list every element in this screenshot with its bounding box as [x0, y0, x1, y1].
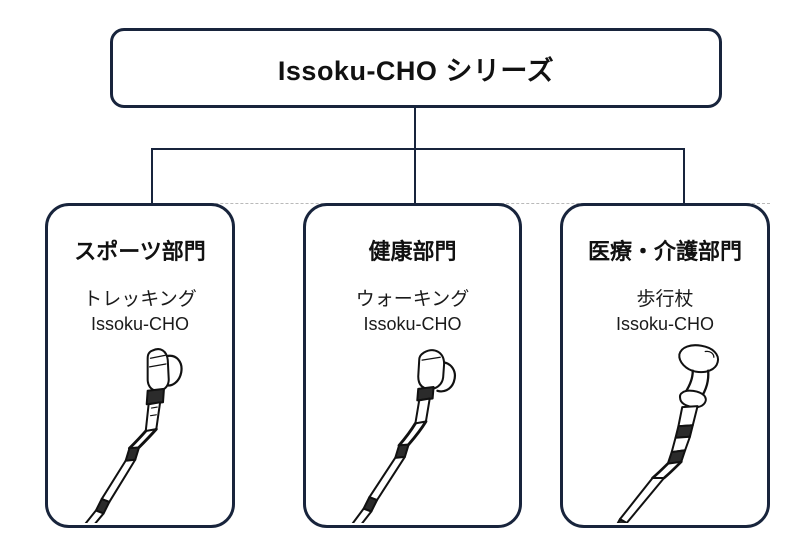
category-subtitle-sports: トレッキング	[48, 284, 232, 311]
connector-root-trunk	[414, 108, 416, 150]
category-subtitle-medical: 歩行杖	[563, 284, 767, 311]
root-node-issoku-cho-series[interactable]: Issoku-CHO シリーズ	[110, 28, 722, 108]
category-heading-health: 健康部門	[306, 234, 519, 266]
category-card-medical[interactable]: 医療・介護部門 歩行杖 Issoku-CHO	[560, 203, 770, 528]
connector-horizontal-bus	[151, 148, 685, 150]
walking-cane-illustration-icon	[563, 341, 767, 523]
category-brand-sports: Issoku-CHO	[48, 314, 232, 335]
category-brand-health: Issoku-CHO	[306, 314, 519, 335]
root-node-label: Issoku-CHO シリーズ	[278, 49, 554, 88]
category-card-health[interactable]: 健康部門 ウォーキング Issoku-CHO	[303, 203, 522, 528]
trekking-pole-illustration-icon	[48, 341, 232, 523]
category-brand-medical: Issoku-CHO	[563, 314, 767, 335]
category-heading-sports: スポーツ部門	[48, 234, 232, 266]
category-card-sports[interactable]: スポーツ部門 トレッキング Issoku-CHO	[45, 203, 235, 528]
walking-pole-illustration-icon	[306, 341, 519, 523]
category-subtitle-health: ウォーキング	[306, 284, 519, 311]
diagram-canvas: Issoku-CHO シリーズ スポーツ部門 トレッキング Issoku-CHO	[0, 0, 800, 548]
connector-branch-medical	[683, 148, 685, 205]
connector-branch-health	[414, 148, 416, 205]
connector-branch-sports	[151, 148, 153, 205]
category-heading-medical: 医療・介護部門	[563, 234, 767, 266]
